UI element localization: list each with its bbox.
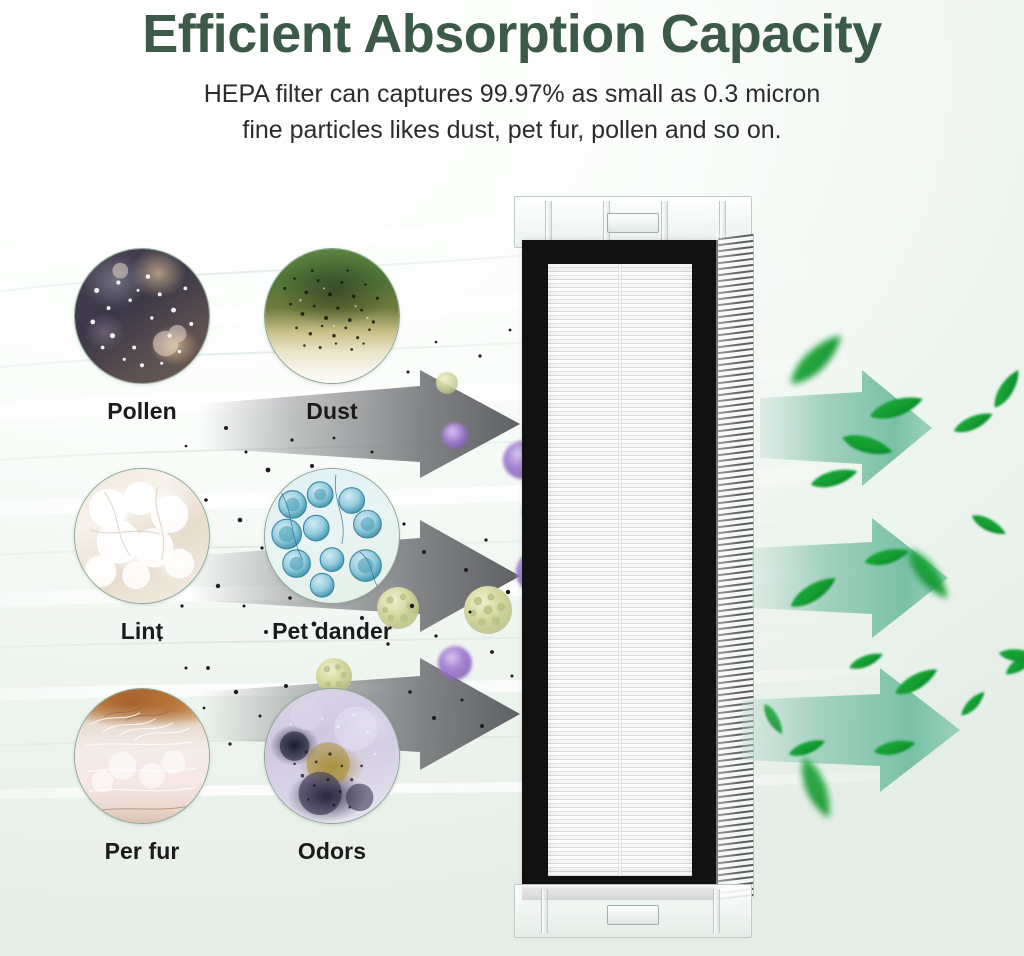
housing-rib bbox=[713, 889, 720, 933]
contaminant-item-pollen[interactable]: Pollen bbox=[74, 248, 210, 425]
pleated-hepa-media bbox=[548, 264, 692, 876]
contaminant-item-pet-dander[interactable]: Pet dander bbox=[264, 468, 400, 645]
filter-pleat-side-profile bbox=[718, 234, 754, 902]
filter-frame-gasket bbox=[522, 240, 718, 900]
page-subtitle: HEPA filter can captures 99.97% as small… bbox=[0, 76, 1024, 148]
filter-bottom-housing bbox=[514, 884, 752, 938]
contaminant-item-per-fur[interactable]: Per fur bbox=[74, 688, 210, 865]
clean-arrow-bottom bbox=[742, 668, 960, 792]
lint-microscope-disc bbox=[74, 468, 210, 604]
subtitle-line-1: HEPA filter can captures 99.97% as small… bbox=[0, 76, 1024, 112]
filter-latch-tab bbox=[607, 905, 659, 925]
contaminant-label: Dust bbox=[264, 398, 400, 425]
dust-microscope-disc bbox=[264, 248, 400, 384]
infographic-canvas: Efficient Absorption Capacity HEPA filte… bbox=[0, 0, 1024, 956]
contaminant-label: Pet dander bbox=[264, 618, 400, 645]
contaminant-item-odors[interactable]: Odors bbox=[264, 688, 400, 865]
hepa-filter-cartridge bbox=[500, 196, 760, 938]
housing-rib bbox=[545, 201, 552, 243]
header-block: Efficient Absorption Capacity HEPA filte… bbox=[0, 0, 1024, 148]
leaf-group bbox=[761, 330, 1024, 822]
pet-dander-microscope-disc bbox=[264, 468, 400, 604]
housing-rib bbox=[661, 201, 668, 243]
contaminant-item-lint[interactable]: Lint bbox=[74, 468, 210, 645]
subtitle-line-2: fine particles likes dust, pet fur, poll… bbox=[0, 112, 1024, 148]
housing-rib bbox=[541, 889, 548, 933]
thumbnail-row: Lint bbox=[60, 468, 420, 688]
contaminant-label: Pollen bbox=[74, 398, 210, 425]
clean-arrow-middle bbox=[752, 518, 948, 638]
pollen-microscope-disc bbox=[74, 248, 210, 384]
contaminant-item-dust[interactable]: Dust bbox=[264, 248, 400, 425]
media-center-seam bbox=[618, 264, 622, 876]
filter-latch-tab bbox=[607, 213, 659, 233]
contaminant-thumbnail-grid: Pollen bbox=[60, 248, 420, 908]
thumbnail-row: Pollen bbox=[60, 248, 420, 468]
odors-microscope-disc bbox=[264, 688, 400, 824]
clean-arrow-top bbox=[760, 370, 932, 486]
thumbnail-row: Per fur bbox=[60, 688, 420, 908]
per-fur-microscope-disc bbox=[74, 688, 210, 824]
contaminant-label: Odors bbox=[264, 838, 400, 865]
contaminant-label: Per fur bbox=[74, 838, 210, 865]
page-title: Efficient Absorption Capacity bbox=[0, 2, 1024, 66]
contaminant-label: Lint bbox=[74, 618, 210, 645]
